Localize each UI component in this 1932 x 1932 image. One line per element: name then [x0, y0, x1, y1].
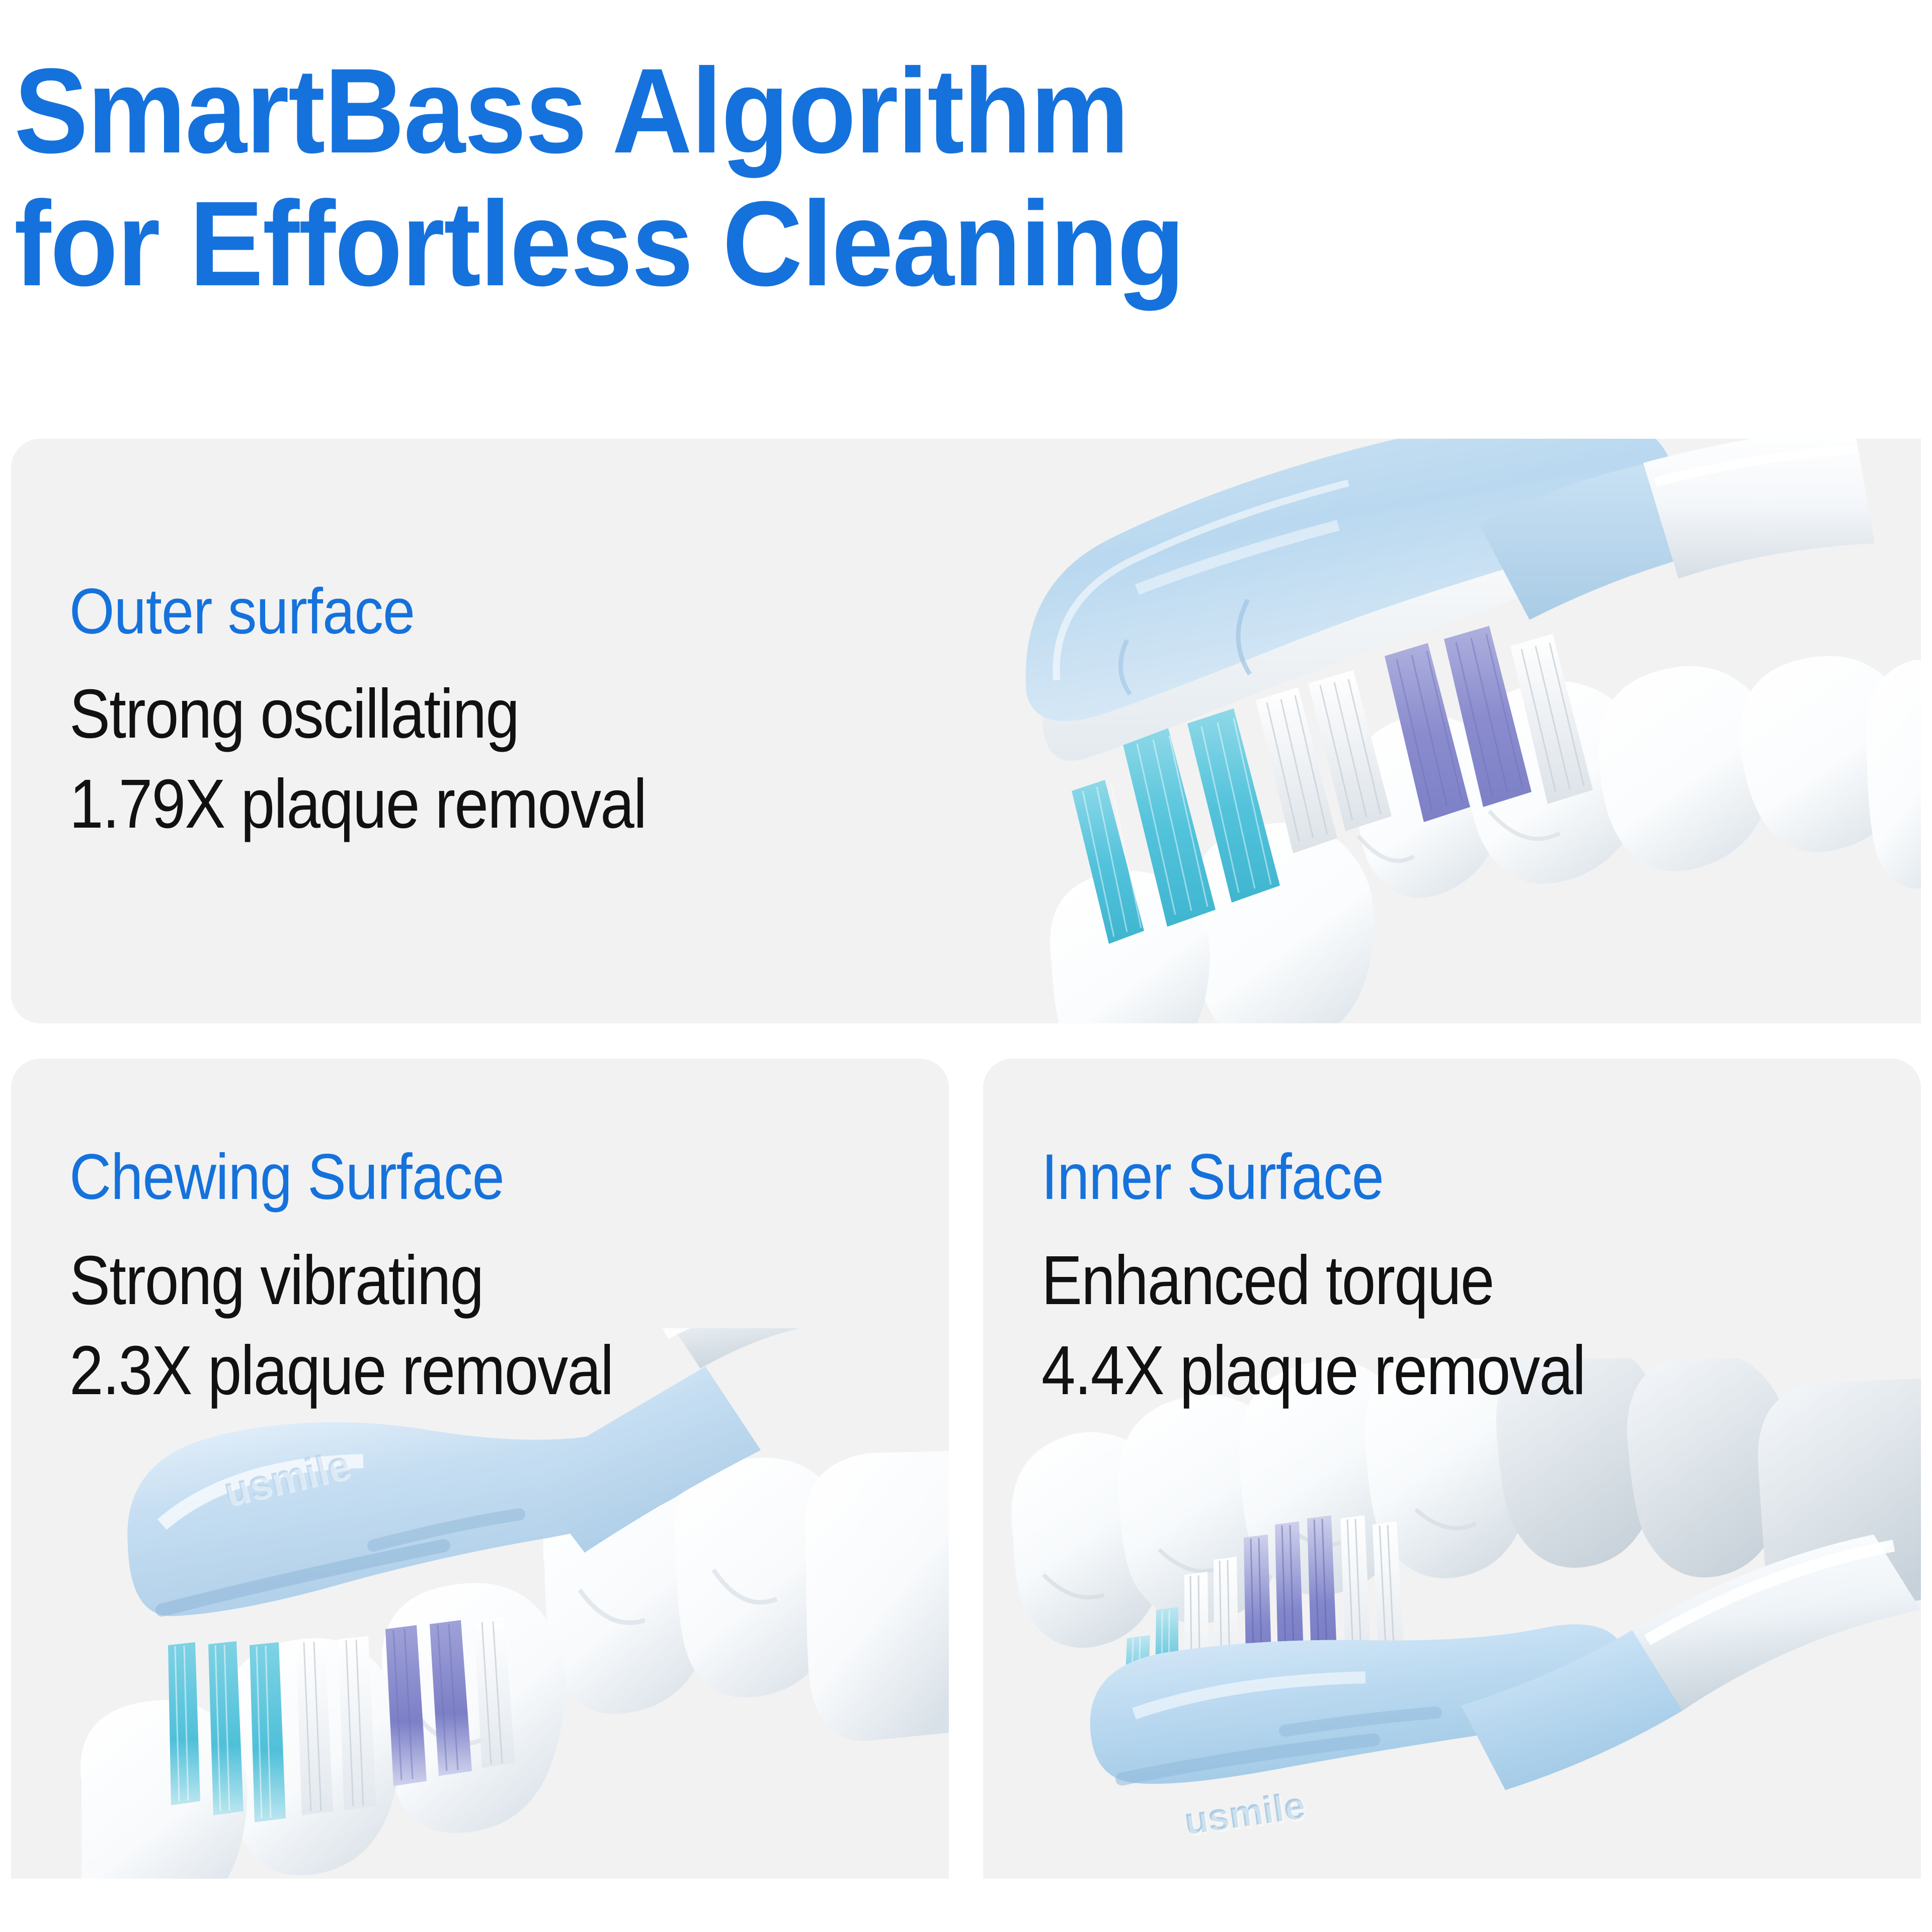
card-body-outer-surface: Strong oscillating 1.79X plaque removal [69, 669, 646, 850]
illustration-outer-surface [976, 439, 1921, 1023]
illustration-inner-surface: usmile usmile [983, 1358, 1921, 1879]
card-heading-inner-surface: Inner Surface [1041, 1145, 1384, 1210]
card-body-chewing-surface: Strong vibrating 2.3X plaque removal [69, 1236, 613, 1416]
page-title: SmartBass Algorithm for Effortless Clean… [14, 44, 1495, 310]
card-heading-chewing-surface: Chewing Surface [69, 1145, 504, 1210]
card-body-inner-surface: Enhanced torque 4.4X plaque removal [1041, 1236, 1585, 1416]
card-heading-outer-surface: Outer surface [69, 580, 415, 644]
